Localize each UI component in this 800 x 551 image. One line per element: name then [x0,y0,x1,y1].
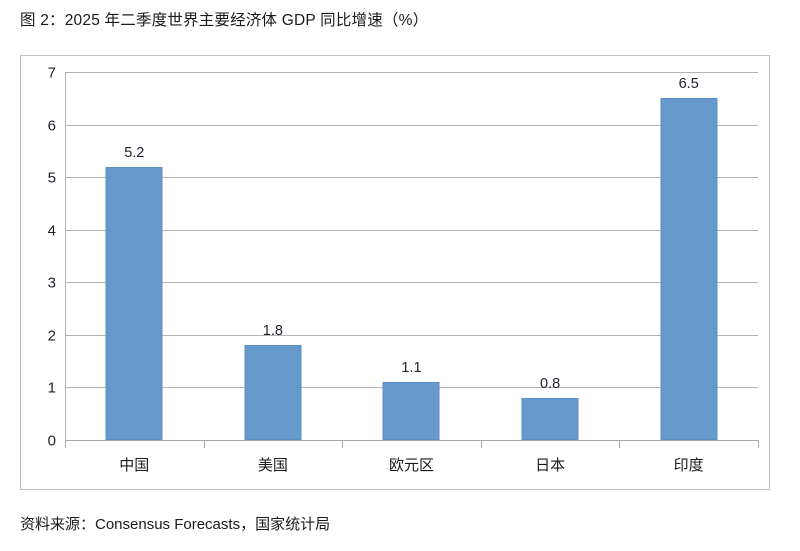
gridline-0: 0 [65,440,758,441]
bar-value-label: 5.2 [124,145,144,161]
bar-value-label: 6.5 [679,76,699,92]
y-tick-label: 0 [48,433,56,450]
bar-美国[interactable] [244,345,301,440]
x-category-label-印度: 印度 [674,454,704,475]
y-tick-label: 1 [48,380,56,397]
bar-欧元区[interactable] [383,382,440,440]
y-tick-label: 4 [48,222,56,239]
plot-area: 012345675.2中国1.8美国1.1欧元区0.8日本6.5印度 [65,72,758,440]
x-axis-tick [204,440,205,448]
bar-中国[interactable] [106,167,163,440]
source-note: 资料来源：Consensus Forecasts，国家统计局 [20,513,330,534]
bar-印度[interactable] [660,98,717,440]
x-axis-tick [481,440,482,448]
x-category-label-美国: 美国 [258,454,288,475]
figure-title: 图 2：2025 年二季度世界主要经济体 GDP 同比增速（%） [20,11,428,31]
x-category-label-欧元区: 欧元区 [389,454,434,475]
bar-group: 1.8 [204,72,343,440]
x-category-label-日本: 日本 [535,454,565,475]
chart-frame: 012345675.2中国1.8美国1.1欧元区0.8日本6.5印度 [20,55,770,490]
bar-group: 6.5 [619,72,758,440]
bar-group: 1.1 [342,72,481,440]
y-tick-label: 5 [48,170,56,187]
x-axis-tick [342,440,343,448]
y-tick-label: 6 [48,117,56,134]
bar-group: 5.2 [65,72,204,440]
y-tick-label: 2 [48,327,56,344]
x-axis-tick [758,440,759,448]
x-category-label-中国: 中国 [119,454,149,475]
bar-group: 0.8 [481,72,620,440]
x-axis-tick [619,440,620,448]
bar-value-label: 0.8 [540,376,560,392]
y-tick-label: 3 [48,275,56,292]
bar-value-label: 1.1 [401,360,421,376]
x-axis-tick [65,440,66,448]
bar-日本[interactable] [522,398,579,440]
bar-value-label: 1.8 [263,323,283,339]
y-tick-label: 7 [48,65,56,82]
